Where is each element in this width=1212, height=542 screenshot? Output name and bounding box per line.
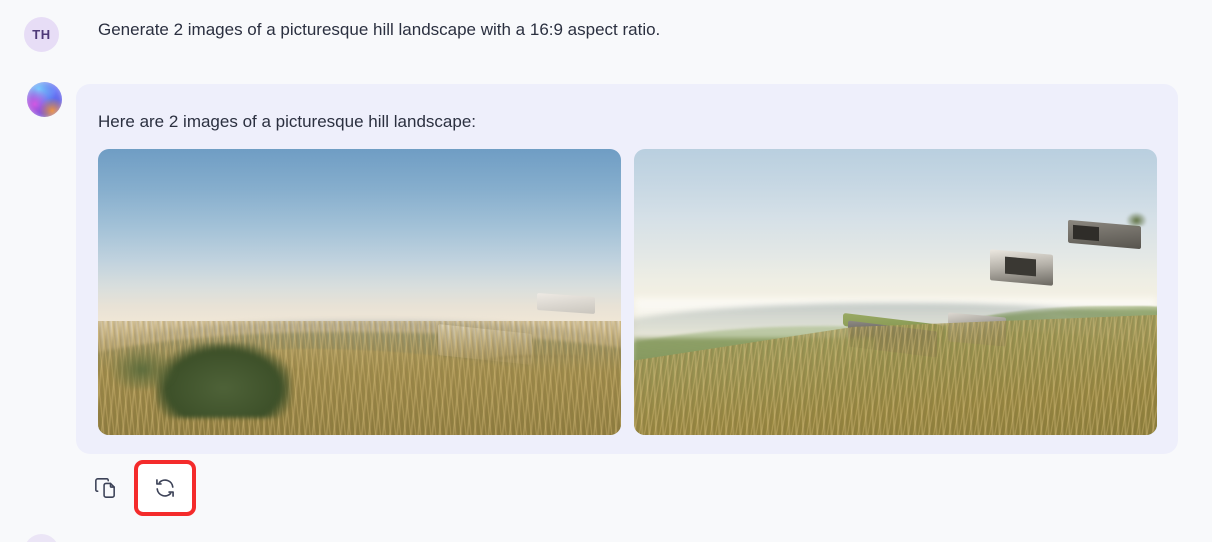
building-window-d (1005, 256, 1036, 276)
next-turn-avatar-peek (24, 534, 59, 542)
generated-image-row (98, 149, 1157, 435)
copy-button[interactable] (76, 460, 134, 516)
chat-thread: TH Generate 2 images of a picturesque hi… (0, 0, 1212, 542)
assistant-message-text: Here are 2 images of a picturesque hill … (98, 110, 476, 134)
assistant-message-turn: Here are 2 images of a picturesque hill … (0, 74, 1212, 454)
building-window-c (1073, 225, 1099, 242)
distant-building (537, 293, 595, 314)
foreground-bush-small (108, 346, 176, 389)
generated-image-1[interactable] (98, 149, 621, 435)
message-action-bar (76, 460, 196, 516)
user-message-turn: TH Generate 2 images of a picturesque hi… (0, 0, 1212, 68)
assistant-orb-avatar (27, 82, 62, 117)
regenerate-button[interactable] (134, 460, 196, 516)
copy-icon (94, 477, 116, 499)
refresh-icon (154, 477, 176, 499)
user-avatar[interactable]: TH (24, 17, 59, 52)
generated-image-2[interactable] (634, 149, 1157, 435)
assistant-message-bubble: Here are 2 images of a picturesque hill … (76, 84, 1178, 454)
ridge-tree (1126, 212, 1147, 226)
user-message-text: Generate 2 images of a picturesque hill … (98, 18, 660, 42)
